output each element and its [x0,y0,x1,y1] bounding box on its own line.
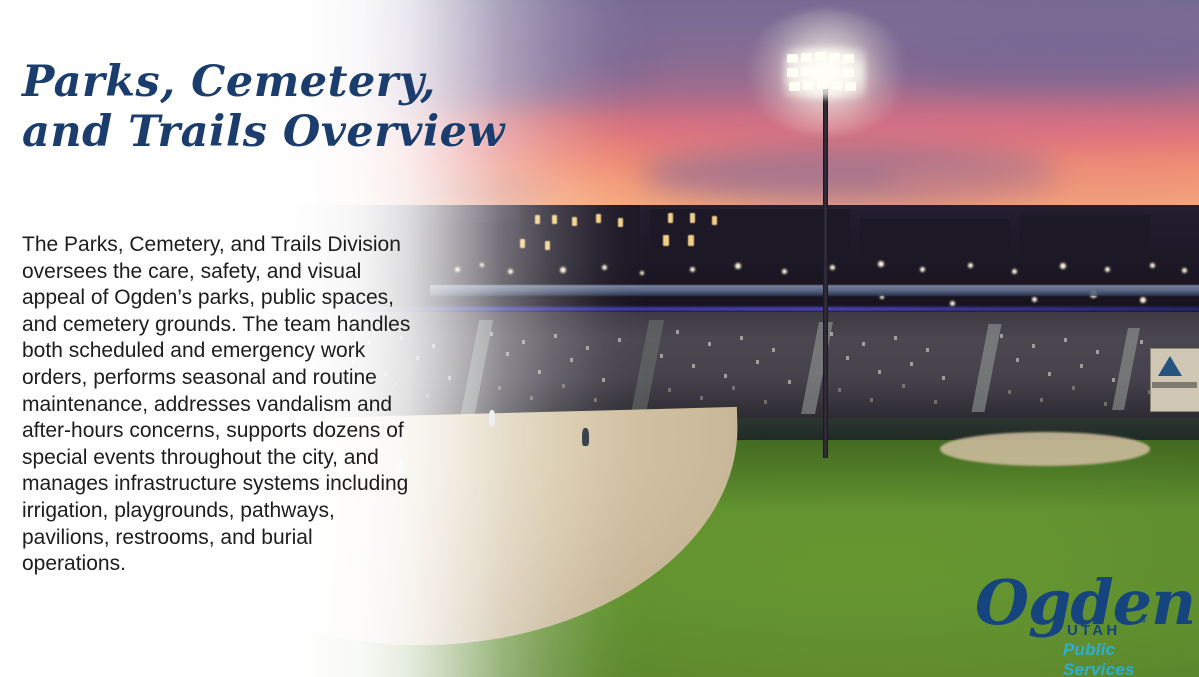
body-paragraph: The Parks, Cemetery, and Trails Division… [22,232,414,578]
utah-label: UTAH [1067,622,1120,639]
page-title: Parks, Cemetery, and Trails Overview [22,57,505,157]
public-services-label: Public Services [1063,640,1190,677]
slide-canvas: Parks, Cemetery, and Trails Overview The… [0,0,1199,677]
trademark-symbol: ™ [1138,618,1146,627]
ogden-public-services-logo: Ogden UTAH ™ Public Services [975,578,1190,666]
